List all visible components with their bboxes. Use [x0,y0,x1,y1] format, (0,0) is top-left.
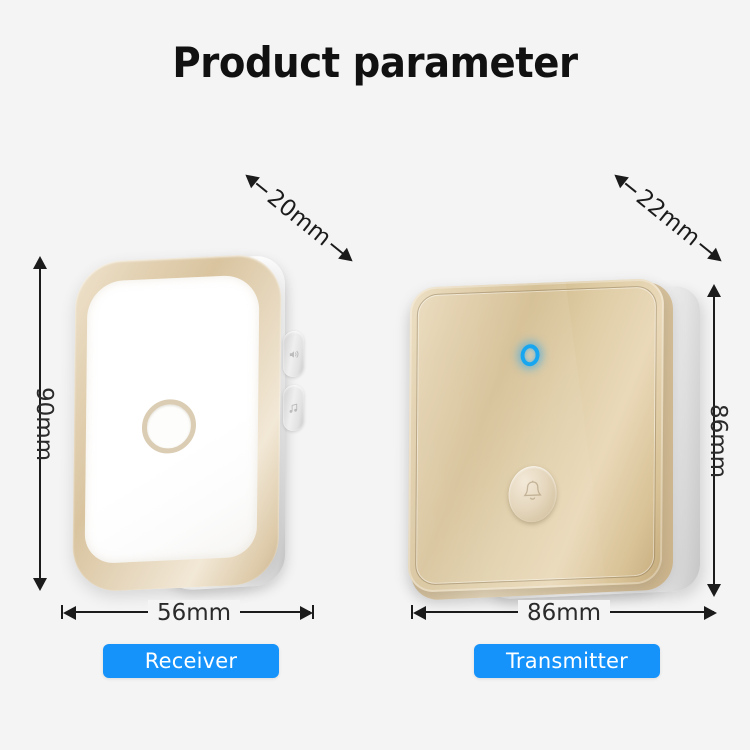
product-transmitter: 86mm 86mm 22mm [375,0,750,750]
receiver-width-label: 56mm [148,600,240,626]
transmitter-doorbell-button[interactable] [508,465,556,523]
transmitter-front-panel [408,278,664,593]
receiver-height-label: 90mm [31,376,57,472]
transmitter-height-label: 86mm [705,393,731,489]
bell-icon [521,480,543,509]
receiver-volume-button[interactable] [283,330,304,377]
transmitter-depth-label: 22mm [628,182,708,254]
music-note-icon [288,398,299,418]
receiver-melody-button[interactable] [283,384,304,431]
volume-icon [288,344,299,364]
receiver-bezel [72,253,281,593]
receiver-depth-label: 20mm [259,182,339,254]
caption-receiver: Receiver [103,644,279,678]
caption-transmitter: Transmitter [474,644,660,678]
product-receiver: 90mm 56mm 20mm [0,0,375,750]
led-ring-icon [520,344,539,367]
transmitter-depth-dimension: 22mm [602,161,735,276]
ring-icon [142,398,197,454]
receiver-front-panel [85,274,260,564]
transmitter-width-label: 86mm [518,600,610,626]
product-diagram-stage: 90mm 56mm 20mm [0,0,750,750]
